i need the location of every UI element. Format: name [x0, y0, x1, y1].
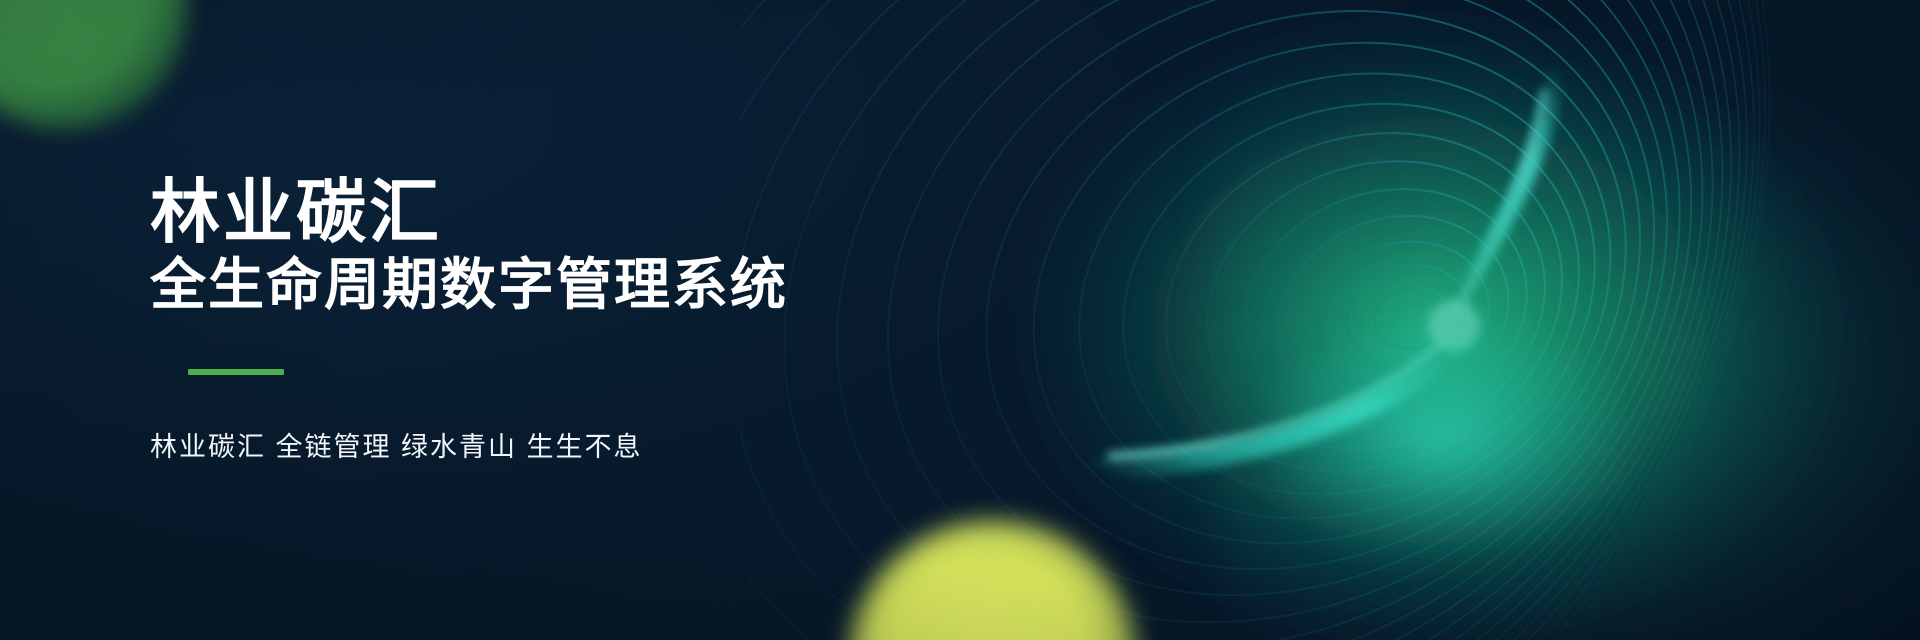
- tagline: 林业碳汇 全链管理 绿水青山 生生不息: [150, 425, 930, 464]
- hero-banner: 林业碳汇 全生命周期数字管理系统 林业碳汇 全链管理 绿水青山 生生不息: [0, 0, 1920, 640]
- hero-content: 林业碳汇 全生命周期数字管理系统 林业碳汇 全链管理 绿水青山 生生不息: [150, 0, 930, 640]
- accent-divider: [188, 369, 284, 375]
- page-subtitle: 全生命周期数字管理系统: [150, 255, 930, 315]
- page-title: 林业碳汇: [150, 176, 930, 249]
